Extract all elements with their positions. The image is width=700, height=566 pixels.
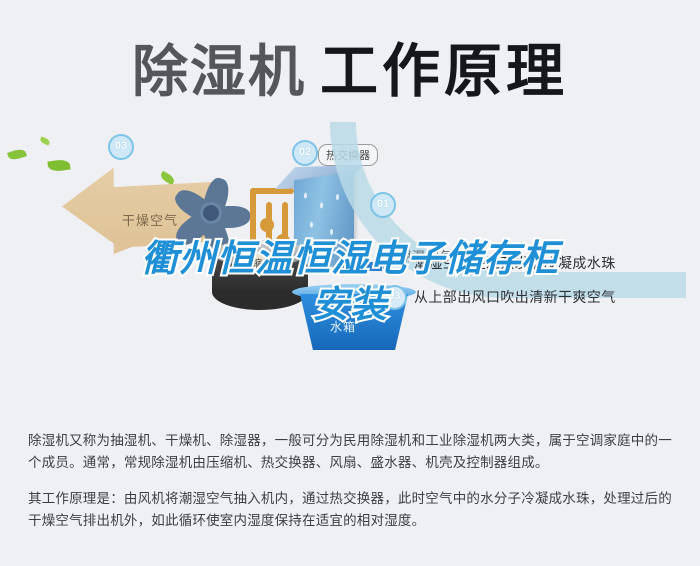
- leaf-icon: [7, 147, 27, 161]
- body-paragraph-2: 其工作原理是：由风机将潮湿空气抽入机内，通过热交换器，此时空气中的水分子冷凝成水…: [28, 488, 676, 532]
- diagram-badge-01: 01: [370, 192, 396, 218]
- page-title: 除湿机工作原理: [0, 24, 700, 108]
- leaf-icon: [47, 159, 70, 173]
- diagram-badge-03: 03: [108, 134, 134, 160]
- diagram-badge-02: 02: [292, 140, 318, 166]
- legend-badge-02: 02: [382, 251, 407, 276]
- air-inlet-arrow: [348, 262, 382, 271]
- legend-item: 02 潮湿空气经过蒸发器冷凝成水珠: [382, 246, 692, 280]
- title-part-principle: 工作原理: [320, 37, 568, 105]
- body-paragraph-1: 除湿机又称为抽湿机、干燥机、除湿器，一般可分为民用除湿机和工业除湿机两大类，属于…: [28, 430, 676, 474]
- poster-root: 除湿机工作原理 干燥空气 03 02 热交换器: [0, 0, 700, 566]
- article-body: 除湿机又称为抽湿机、干燥机、除湿器，一般可分为民用除湿机和工业除湿机两大类，属于…: [28, 416, 676, 545]
- legend-list: 02 潮湿空气经过蒸发器冷凝成水珠 03 从上部出风口吹出清新干爽空气: [382, 246, 692, 314]
- compressor-label: 压缩机: [238, 254, 276, 271]
- title-part-dehumidifier: 除湿机: [132, 40, 306, 105]
- legend-text-03: 从上部出风口吹出清新干爽空气: [414, 287, 616, 307]
- water-tank-label: 水箱: [330, 318, 356, 335]
- leaf-icon: [39, 136, 51, 145]
- legend-text-02: 潮湿空气经过蒸发器冷凝成水珠: [414, 253, 616, 273]
- legend-badge-03: 03: [382, 285, 407, 310]
- legend-item: 03 从上部出风口吹出清新干爽空气: [382, 280, 692, 314]
